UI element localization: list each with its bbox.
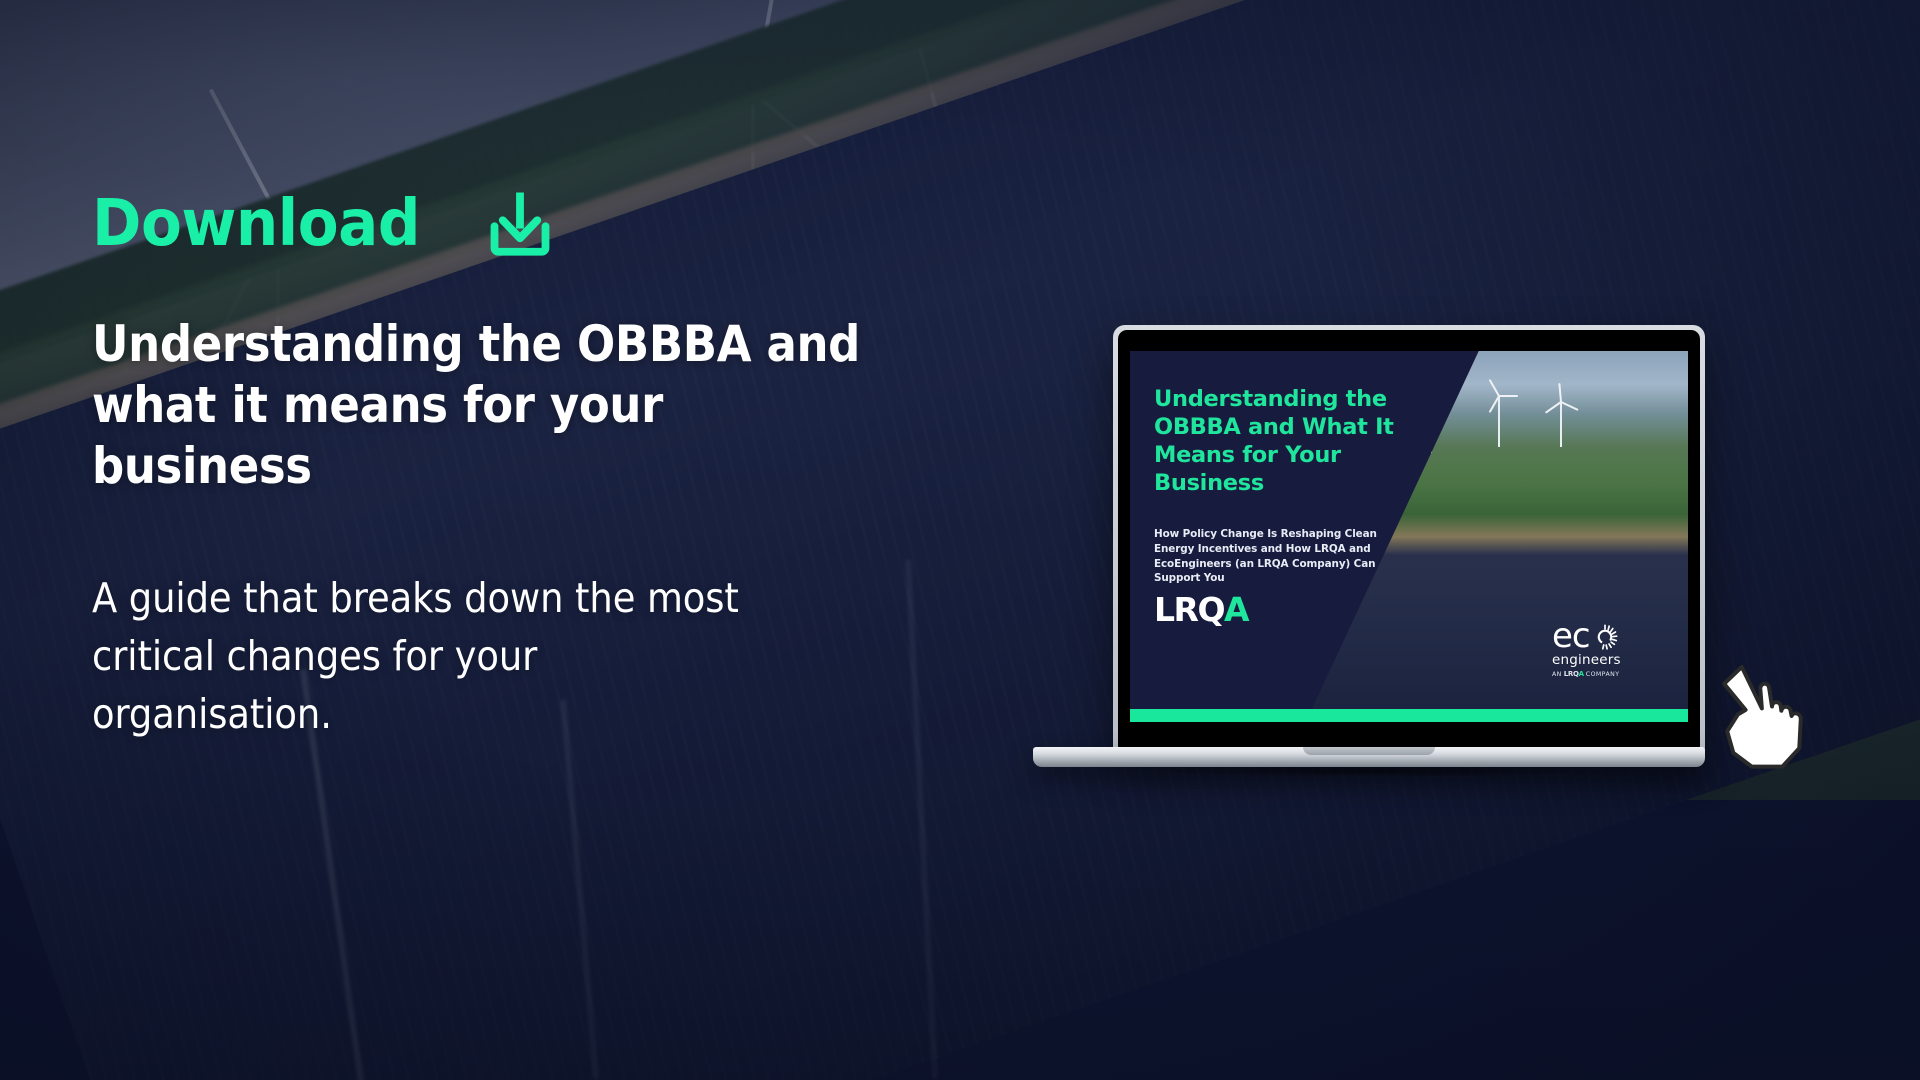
cover-subtitle: How Policy Change Is Reshaping Clean Ene… <box>1154 527 1392 586</box>
download-icon[interactable] <box>483 188 557 260</box>
cover-title: Understanding the OBBBA and What It Mean… <box>1154 386 1404 498</box>
cover-wind-turbine <box>1498 395 1518 447</box>
promotional-banner: Download Understanding the OBBBA and wha… <box>0 0 1920 1080</box>
promo-subcopy: A guide that breaks down the most critic… <box>92 569 758 744</box>
laptop-mockup: Understanding the OBBBA and What It Mean… <box>1033 325 1705 785</box>
ecoengineers-logo: ec <box>1552 623 1662 678</box>
download-row[interactable]: Download <box>92 188 952 260</box>
cover-accent-bar <box>1130 709 1688 722</box>
laptop-lid: Understanding the OBBBA and What It Mean… <box>1113 325 1705 752</box>
lrqa-logo: LRQA <box>1154 593 1248 626</box>
eco-tagline: AN LRQA COMPANY <box>1552 670 1662 678</box>
page-title: Understanding the OBBBA and what it mean… <box>92 314 884 497</box>
lrqa-logo-text: LRQ <box>1154 590 1224 629</box>
download-label: Download <box>92 192 420 256</box>
laptop-bezel: Understanding the OBBBA and What It Mean… <box>1118 330 1700 748</box>
promo-copy: Download Understanding the OBBBA and wha… <box>92 188 952 744</box>
lrqa-logo-accent: A <box>1224 590 1248 629</box>
eco-tagline-prefix: AN <box>1552 671 1562 678</box>
cover-wind-turbine <box>1560 401 1578 447</box>
pointing-hand-cursor[interactable] <box>1718 660 1810 772</box>
eco-tagline-suffix: COMPANY <box>1586 671 1620 678</box>
eco-word-text: engineers <box>1552 652 1662 668</box>
eco-tagline-brand: LRQA <box>1564 670 1584 678</box>
sunburst-icon <box>1592 624 1618 650</box>
ebook-cover-screen[interactable]: Understanding the OBBBA and What It Mean… <box>1130 351 1688 722</box>
eco-mark-text: ec <box>1552 623 1590 651</box>
laptop-base <box>1033 747 1705 767</box>
